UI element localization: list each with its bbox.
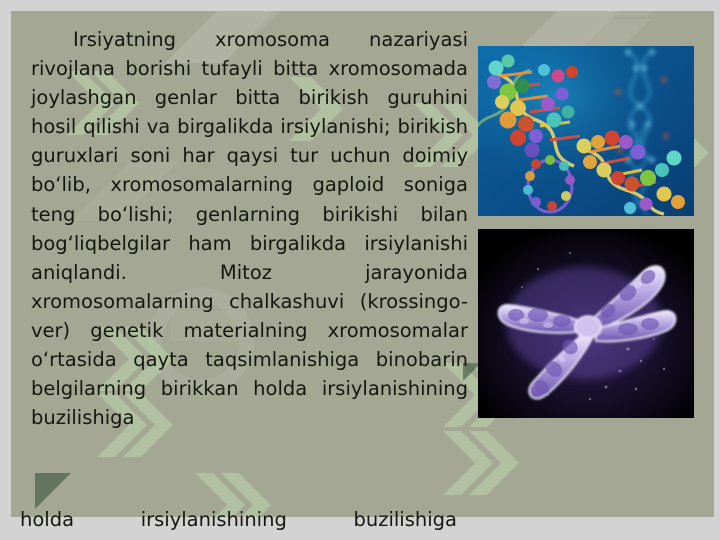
last-line-word: holda [20,505,74,534]
dna-double-helix-image [478,46,694,216]
chromosome-image [478,229,694,418]
text-column: Irsiyatning xromosoma nazariyasi rivojla… [31,25,468,432]
slide-body-last-line: holda irsiylanishining buzilishiga [20,505,457,534]
presentation-slide: Irsiyatning xromosoma nazariyasi rivojla… [11,11,714,517]
dna-illustration [478,46,694,216]
last-line-word: buzilishiga [353,505,457,534]
last-line-word: irsiylanishining [141,505,287,534]
slide-viewer: Irsiyatning xromosoma nazariyasi rivojla… [0,0,720,540]
slide-body-paragraph: Irsiyatning xromosoma nazariyasi rivojla… [31,25,468,432]
chromosome-illustration [478,229,694,418]
